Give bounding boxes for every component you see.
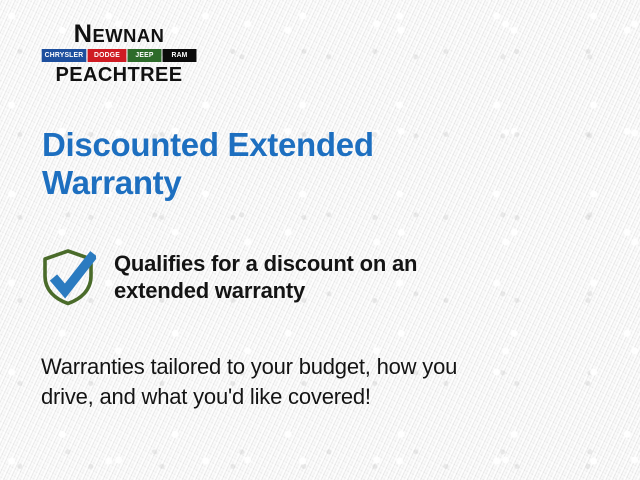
feature-text: Qualifies for a discount on an extended … <box>114 246 417 304</box>
feature-line-1: Qualifies for a discount on an <box>114 250 417 277</box>
headline-line-2: Warranty <box>42 164 462 202</box>
warranty-promo-slide: Newnan CHRYSLER DODGE JEEP RAM PEACHTREE… <box>0 0 640 480</box>
logo-top-word: Newnan <box>39 22 198 47</box>
brand-badge-dodge: DODGE <box>88 49 127 62</box>
feature-line-2: extended warranty <box>114 277 417 304</box>
feature-callout: Qualifies for a discount on an extended … <box>40 246 600 306</box>
headline-line-1: Discounted Extended <box>42 126 462 164</box>
brand-badge-ram: RAM <box>163 49 197 62</box>
body-copy: Warranties tailored to your budget, how … <box>41 352 601 412</box>
logo-bottom-word: PEACHTREE <box>41 65 197 86</box>
body-line-1: Warranties tailored to your budget, how … <box>41 352 601 382</box>
body-line-2: drive, and what you'd like covered! <box>41 382 601 412</box>
dealership-logo: Newnan CHRYSLER DODGE JEEP RAM PEACHTREE <box>41 22 197 86</box>
brand-badge-chrysler: CHRYSLER <box>42 49 87 62</box>
brand-badge-jeep: JEEP <box>128 49 162 62</box>
shield-check-icon <box>40 248 96 306</box>
brand-strip: CHRYSLER DODGE JEEP RAM <box>41 49 197 62</box>
page-title: Discounted Extended Warranty <box>42 126 462 202</box>
